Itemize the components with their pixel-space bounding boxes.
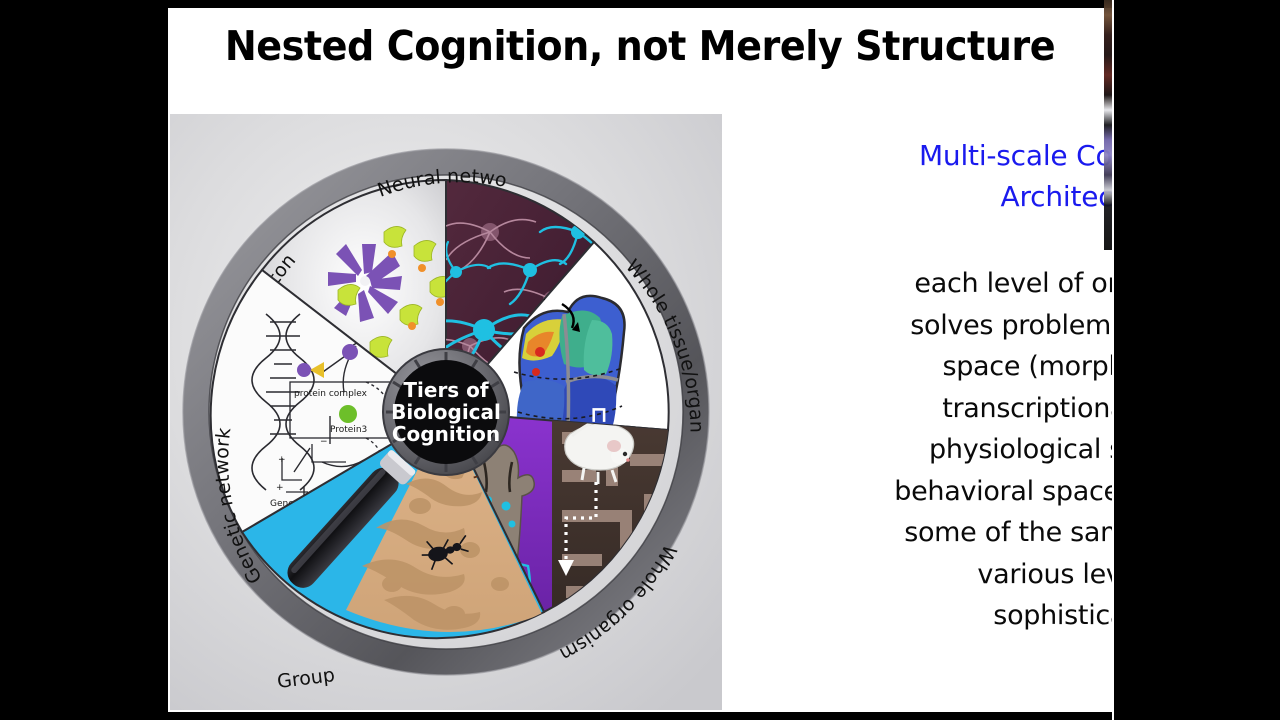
page-title: Nested Cognition, not Merely Structure — [201, 22, 1079, 70]
presentation-slide: Nested Cognition, not Merely Structure — [168, 8, 1112, 712]
slide-edge-strip — [1112, 0, 1114, 720]
hub-line-2: Biological — [391, 400, 501, 424]
hub-lens: Tiers of Biological Cognition — [383, 349, 509, 475]
svg-text:−: − — [320, 437, 328, 447]
inner-label-protein3: Protein3 — [330, 425, 367, 435]
tiers-wheel-figure: Cytoskeleton — [170, 114, 722, 710]
mca-heading: Multi-scale Competency Architecture — [890, 118, 1112, 217]
right-text-column: Multi-scale Competency Architecture each… — [890, 118, 1112, 710]
svg-text:+: + — [276, 483, 284, 493]
diagram-panel: Cytoskeleton — [170, 114, 722, 710]
svg-text:+: + — [278, 455, 286, 465]
body-paragraph: each level of organization solves proble… — [890, 263, 1112, 637]
hub-line-3: Cognition — [392, 422, 500, 446]
hub-line-1: Tiers of — [403, 378, 489, 402]
screen: Nested Cognition, not Merely Structure — [0, 0, 1280, 720]
inner-label-protein-complex: protein complex — [294, 389, 368, 399]
